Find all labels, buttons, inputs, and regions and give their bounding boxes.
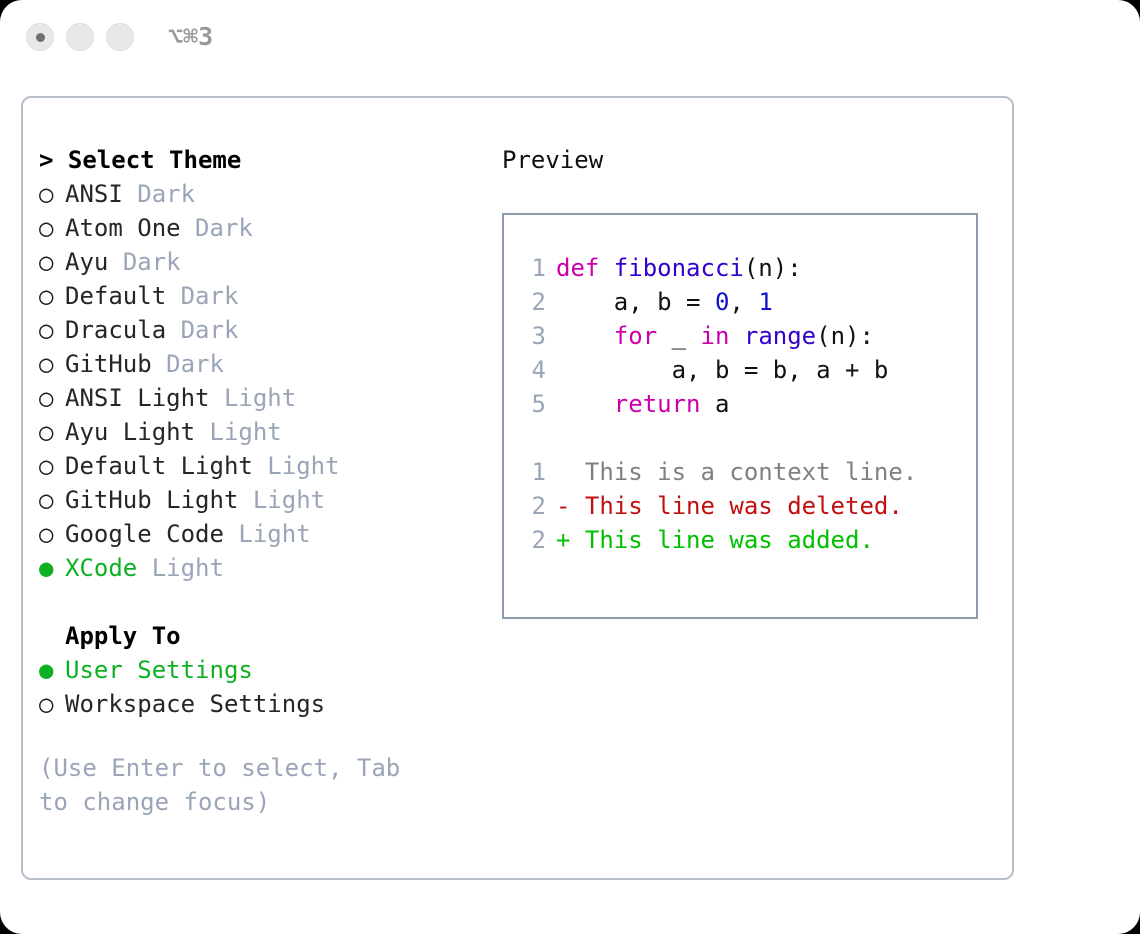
window-titlebar: ⌥⌘3 [0,0,1140,78]
diff-text: This line was deleted. [570,492,902,520]
code-line: 2 a, b = 0, 1 [520,285,917,319]
diff-line-number: 2 [520,523,546,557]
diff-line-number: 1 [520,455,546,489]
theme-name: Default Light [65,452,253,480]
theme-list-item[interactable]: ●XCode Light [39,551,469,585]
radio-unselected-icon: ○ [39,415,65,449]
code-line: 4 a, b = b, a + b [520,353,917,387]
code-line: 5 return a [520,387,917,421]
code-token: (n): [744,254,802,282]
code-line-number: 5 [520,387,546,421]
code-token: def [556,254,614,282]
diff-sign: - [556,492,570,520]
keyboard-hint-text: (Use Enter to select, Tab to change focu… [39,751,439,819]
diff-line: 2+ This line was added. [520,523,917,557]
code-line: 3 for _ in range(n): [520,319,917,353]
radio-selected-icon: ● [39,551,65,585]
theme-list-item[interactable]: ○ANSI Dark [39,177,469,211]
terminal-window: ⌥⌘3 > Select Theme ○ANSI Dark○Atom One D… [0,0,1140,934]
window-controls [26,23,134,51]
window-dot-active[interactable] [26,23,54,51]
theme-name: Dracula [65,316,166,344]
theme-variant-badge: Light [253,486,325,514]
apply-to-option[interactable]: ●User Settings [39,653,469,687]
radio-selected-icon: ● [39,653,65,687]
theme-name: ANSI Light [65,384,210,412]
theme-name: GitHub Light [65,486,238,514]
theme-list-item[interactable]: ○GitHub Dark [39,347,469,381]
code-token: for [614,322,657,350]
diff-line: 2- This line was deleted. [520,489,917,523]
code-token: fibonacci [614,254,744,282]
code-token: 0 [715,288,729,316]
code-token: 1 [758,288,772,316]
theme-variant-badge: Dark [123,248,181,276]
preview-column: Preview 1def fibonacci(n):2 a, b = 0, 13… [502,143,1002,619]
radio-unselected-icon: ○ [39,313,65,347]
apply-to-label: Workspace Settings [65,690,325,718]
radio-unselected-icon: ○ [39,483,65,517]
theme-list-item[interactable]: ○GitHub Light Light [39,483,469,517]
radio-unselected-icon: ○ [39,517,65,551]
radio-unselected-icon: ○ [39,687,65,721]
code-line-number: 4 [520,353,546,387]
list-spacer [39,585,469,619]
window-dot-second[interactable] [66,23,94,51]
preview-box: 1def fibonacci(n):2 a, b = 0, 13 for _ i… [502,213,978,619]
theme-variant-badge: Dark [166,350,224,378]
radio-unselected-icon: ○ [39,347,65,381]
theme-variant-badge: Dark [181,316,239,344]
preview-title: Preview [502,143,1002,177]
apply-to-options[interactable]: ●User Settings○Workspace Settings [39,653,469,721]
apply-to-label: User Settings [65,656,253,684]
code-token: return [614,390,701,418]
theme-variant-badge: Light [210,418,282,446]
window-dot-third[interactable] [106,23,134,51]
theme-variant-badge: Dark [181,282,239,310]
code-line: 1def fibonacci(n): [520,251,917,285]
theme-name: XCode [65,554,137,582]
code-token [556,390,614,418]
theme-variant-badge: Light [224,384,296,412]
theme-list-item[interactable]: ○Default Dark [39,279,469,313]
theme-selection-column: > Select Theme ○ANSI Dark○Atom One Dark○… [39,143,469,819]
theme-list-item[interactable]: ○Ayu Light Light [39,415,469,449]
theme-list-item[interactable]: ○Atom One Dark [39,211,469,245]
radio-unselected-icon: ○ [39,211,65,245]
code-line-number: 2 [520,285,546,319]
theme-list-item[interactable]: ○ANSI Light Light [39,381,469,415]
diff-text: This line was added. [570,526,873,554]
code-line-number: 1 [520,251,546,285]
window-dot-active-indicator [36,33,45,42]
select-theme-header: > Select Theme [39,143,469,177]
theme-list-item[interactable]: ○Dracula Dark [39,313,469,347]
code-token: a, b = b, a + b [556,356,888,384]
radio-unselected-icon: ○ [39,381,65,415]
code-preview: 1def fibonacci(n):2 a, b = 0, 13 for _ i… [520,251,917,557]
code-blank-line [520,421,917,455]
theme-name: Google Code [65,520,224,548]
radio-unselected-icon: ○ [39,279,65,313]
theme-name: ANSI [65,180,123,208]
radio-unselected-icon: ○ [39,245,65,279]
radio-unselected-icon: ○ [39,449,65,483]
code-token: a, b = [556,288,715,316]
radio-unselected-icon: ○ [39,177,65,211]
theme-variant-badge: Dark [195,214,253,242]
theme-variant-badge: Light [267,452,339,480]
code-token: in [701,322,730,350]
theme-variant-badge: Light [152,554,224,582]
code-token [729,322,743,350]
theme-variant-badge: Dark [137,180,195,208]
diff-text: This is a context line. [570,458,917,486]
theme-list[interactable]: ○ANSI Dark○Atom One Dark○Ayu Dark○Defaul… [39,177,469,585]
theme-list-item[interactable]: ○Google Code Light [39,517,469,551]
code-token [556,322,614,350]
code-token: a [701,390,730,418]
diff-sign [556,458,570,486]
theme-name: Ayu [65,248,108,276]
code-token: _ [657,322,700,350]
diff-line-number: 2 [520,489,546,523]
code-token: range [744,322,816,350]
diff-line: 1 This is a context line. [520,455,917,489]
code-token: (n): [816,322,874,350]
theme-variant-badge: Light [238,520,310,548]
apply-to-option[interactable]: ○Workspace Settings [39,687,469,721]
apply-to-header: Apply To [39,619,469,653]
theme-name: Default [65,282,166,310]
theme-name: Atom One [65,214,181,242]
theme-name: Ayu Light [65,418,195,446]
theme-list-item[interactable]: ○Ayu Dark [39,245,469,279]
theme-name: GitHub [65,350,152,378]
keyboard-shortcut-label: ⌥⌘3 [168,22,213,52]
code-line-number: 3 [520,319,546,353]
theme-list-item[interactable]: ○Default Light Light [39,449,469,483]
theme-picker-panel: > Select Theme ○ANSI Dark○Atom One Dark○… [21,96,1014,880]
code-token: , [729,288,758,316]
diff-sign: + [556,526,570,554]
